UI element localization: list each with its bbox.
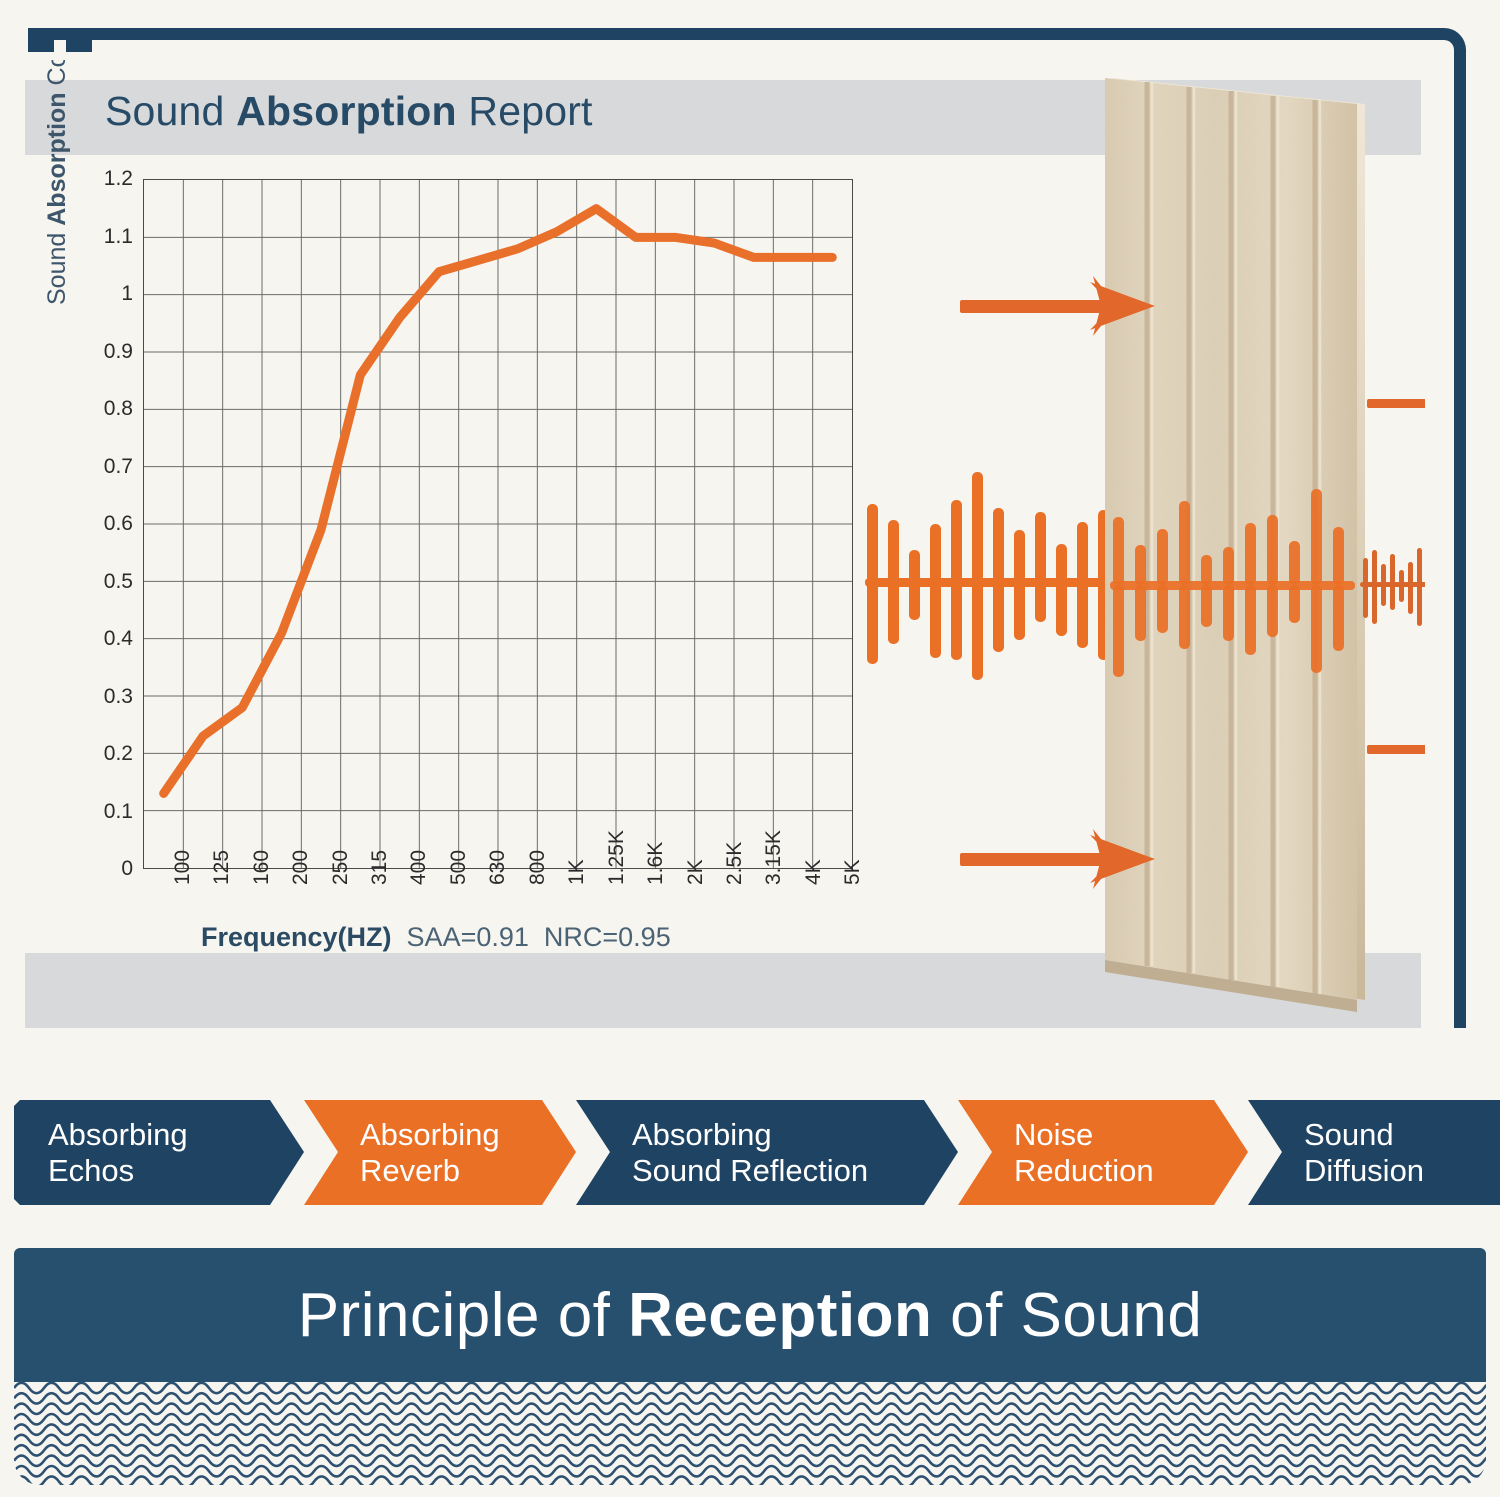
absorption-chart: Sound Absorption Coefficient 00.10.20.30… [45, 165, 875, 955]
y-tick-label: 1.2 [45, 167, 133, 191]
saa-value: SAA=0.91 [407, 922, 529, 952]
y-label-part-2: Coefficient [43, 60, 71, 92]
x-tick-label: 630 [486, 850, 510, 885]
feature-tag[interactable]: AbsorbingReverb [304, 1100, 576, 1205]
corner-square-1 [28, 28, 54, 52]
x-tick-label: 125 [210, 850, 234, 885]
feature-tag-line-1: Noise [1014, 1117, 1154, 1152]
y-tick-label: 0.9 [45, 340, 133, 364]
feature-tag-label: SoundDiffusion [1248, 1117, 1424, 1188]
chart-plot-area [143, 179, 853, 869]
x-tick-label: 1K [565, 859, 589, 885]
x-tick-label: 400 [407, 850, 431, 885]
feature-tag-line-1: Absorbing [632, 1117, 868, 1152]
feature-tag-label: NoiseReduction [958, 1117, 1154, 1188]
footer-part-1: Principle of [298, 1281, 628, 1350]
feature-tag-line-2: Diffusion [1304, 1153, 1424, 1188]
footer-part-2: of Sound [932, 1281, 1202, 1350]
feature-tag-label: AbsorbingSound Reflection [576, 1117, 868, 1188]
feature-tag-line-2: Echos [48, 1153, 188, 1188]
footer-part-bold: Reception [628, 1281, 932, 1350]
poster-root: Sound Absorption Report Sound Absorption… [0, 0, 1500, 1497]
waveform-axis-line-small [1360, 582, 1425, 587]
y-tick-label: 0.3 [45, 685, 133, 709]
panel-illustration [855, 60, 1425, 1030]
x-tick-label: 4K [802, 859, 826, 885]
y-tick-label: 1 [45, 282, 133, 306]
y-tick-label: 0.8 [45, 397, 133, 421]
illustration-svg [855, 60, 1425, 1030]
y-tick-label: 0.4 [45, 627, 133, 651]
feature-tag-strip: AbsorbingEchosAbsorbingReverbAbsorbingSo… [14, 1100, 1486, 1205]
y-tick-label: 0.6 [45, 512, 133, 536]
corner-square-2 [66, 28, 92, 52]
feature-tag-label: AbsorbingEchos [14, 1117, 188, 1188]
y-tick-label: 1.1 [45, 225, 133, 249]
feature-tag[interactable]: NoiseReduction [958, 1100, 1248, 1205]
y-tick-label: 0.5 [45, 570, 133, 594]
sound-absorption-report: Sound Absorption Report Sound Absorption… [25, 60, 1425, 1030]
x-tick-label: 3.15K [762, 830, 786, 885]
x-axis-label: Frequency(HZ) [201, 922, 392, 952]
x-tick-label: 1.6K [644, 842, 668, 885]
title-part-2: Report [457, 88, 593, 134]
title-part-bold: Absorption [236, 88, 457, 134]
y-tick-label: 0.7 [45, 455, 133, 479]
feature-tag-label: AbsorbingReverb [304, 1117, 500, 1188]
y-tick-label: 0.2 [45, 742, 133, 766]
feature-tag-line-2: Sound Reflection [632, 1153, 868, 1188]
feature-tag-line-1: Sound [1304, 1117, 1424, 1152]
x-tick-label: 800 [526, 850, 550, 885]
feature-tag[interactable]: AbsorbingEchos [14, 1100, 304, 1205]
feature-tag-line-2: Reverb [360, 1153, 500, 1188]
feature-tag-line-2: Reduction [1014, 1153, 1154, 1188]
waveform-axis-line-over [1110, 581, 1355, 590]
x-tick-label: 315 [368, 850, 392, 885]
y-tick-label: 0 [45, 857, 133, 881]
wave-pattern-svg [14, 1382, 1486, 1485]
nrc-value: NRC=0.95 [544, 922, 671, 952]
feature-tag[interactable]: SoundDiffusion [1248, 1100, 1500, 1205]
x-tick-label: 100 [171, 850, 195, 885]
y-label-part-bold: Absorption [43, 92, 71, 225]
x-tick-label: 200 [289, 850, 313, 885]
feature-tag-line-1: Absorbing [48, 1117, 188, 1152]
y-tick-label: 0.1 [45, 800, 133, 824]
decorative-wave-pattern [14, 1382, 1486, 1485]
x-tick-label: 1.25K [605, 830, 629, 885]
x-tick-label: 500 [447, 850, 471, 885]
x-tick-label: 160 [250, 850, 274, 885]
footer-banner: Principle of Reception of Sound [14, 1248, 1486, 1382]
x-tick-label: 2K [684, 859, 708, 885]
x-tick-label: 2.5K [723, 842, 747, 885]
feature-tag[interactable]: AbsorbingSound Reflection [576, 1100, 958, 1205]
x-tick-label: 250 [329, 850, 353, 885]
chart-x-axis-caption: Frequency(HZ) SAA=0.91 NRC=0.95 [201, 922, 671, 953]
footer-title: Principle of Reception of Sound [298, 1280, 1203, 1351]
acoustic-felt-panel [1105, 78, 1365, 1012]
chart-svg [144, 180, 852, 868]
title-part-1: Sound [105, 88, 236, 134]
page-title: Sound Absorption Report [105, 88, 593, 135]
feature-tag-line-1: Absorbing [360, 1117, 500, 1152]
